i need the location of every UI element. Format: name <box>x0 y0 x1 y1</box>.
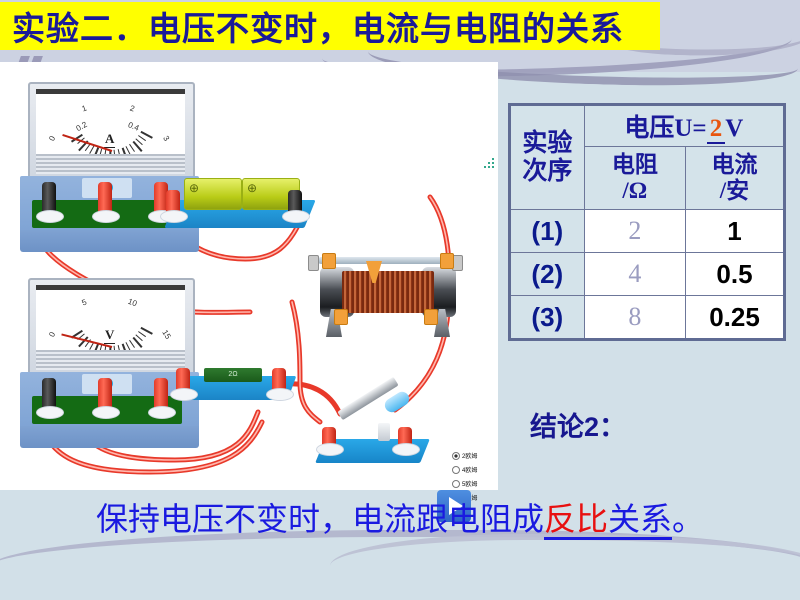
rheostat-clip[interactable] <box>440 253 454 269</box>
title-banner: 实验二．电压不变时，电流与电阻的关系 <box>0 2 660 50</box>
table-header-row: 实验 次序 电压U=2V <box>510 105 785 147</box>
battery-holder <box>170 172 315 242</box>
switch-contact-block <box>378 423 390 441</box>
radio-dot-icon[interactable] <box>452 480 460 488</box>
ammeter-terminal-negative[interactable] <box>42 182 56 216</box>
switch-terminal-right[interactable] <box>398 427 412 449</box>
header-sequence-line1: 实验 <box>511 130 584 158</box>
cell-resistance: 8 <box>584 296 685 340</box>
radio-option-label: 4欧姆 <box>462 465 477 474</box>
header-voltage-prefix: 电压U= <box>624 115 706 142</box>
voltmeter: 0 5 10 15 V <box>20 278 200 453</box>
rheostat-bottom-clip[interactable] <box>424 309 438 325</box>
voltmeter-terminal-negative[interactable] <box>42 378 56 412</box>
radio-option[interactable]: 4欧姆 <box>452 464 498 475</box>
cell-resistance: 2 <box>584 210 685 253</box>
ammeter-terminal-positive[interactable] <box>98 182 112 216</box>
battery-cell <box>184 178 242 210</box>
radio-option-label: 5欧姆 <box>462 479 477 488</box>
decorative-dots <box>484 158 498 170</box>
radio-option[interactable]: 2欧姆 <box>452 450 498 461</box>
page-title: 实验二．电压不变时，电流与电阻的关系 <box>0 2 624 50</box>
ammeter-face: 0 0.2 1 2 0.4 3 A <box>36 89 185 156</box>
resistor-terminal-left[interactable] <box>176 368 190 394</box>
conclusion-label: 结论2： <box>530 405 626 444</box>
radio-option[interactable]: 5欧姆 <box>452 478 498 489</box>
voltmeter-bezel: 0 5 10 15 V <box>28 278 195 378</box>
rheostat-bottom-clip[interactable] <box>334 309 348 325</box>
row-label: (3) <box>510 296 585 340</box>
table-row: (2) 4 0.5 <box>510 253 785 296</box>
conclusion-highlight: 反比 <box>544 501 608 540</box>
sliding-rheostat[interactable] <box>300 247 475 342</box>
resistor-terminal-right[interactable] <box>272 368 286 394</box>
radio-dot-icon[interactable] <box>452 452 460 460</box>
voltmeter-face: 0 5 10 15 V <box>36 285 185 352</box>
cell-current: 1 <box>685 210 784 253</box>
header-resistance: 电阻 /Ω <box>584 147 685 210</box>
voltmeter-base <box>20 426 199 448</box>
ammeter-vents <box>36 154 185 174</box>
rheostat-coil <box>342 271 434 313</box>
conclusion-sentence: 保持电压不变时，电流跟电阻成反比关系。 <box>0 494 800 540</box>
header-sequence: 实验 次序 <box>510 105 585 210</box>
radio-dot-icon[interactable] <box>452 466 460 474</box>
row-label: (2) <box>510 253 585 296</box>
resistor-label: 2Ω <box>204 368 262 382</box>
voltmeter-vents <box>36 350 185 370</box>
switch-terminal-left[interactable] <box>322 427 336 449</box>
experiment-data-table: 实验 次序 电压U=2V 电阻 /Ω 电流 /安 (1) 2 1 (2) 4 0… <box>508 103 786 341</box>
voltage-value: 2 <box>710 115 723 142</box>
conclusion-part-4: 。 <box>672 501 704 537</box>
header-sequence-line2: 次序 <box>511 158 584 186</box>
circuit-diagram-panel: 0 0.2 1 2 0.4 3 A <box>0 62 498 490</box>
voltmeter-terminal-range[interactable] <box>154 378 168 412</box>
table-row: (1) 2 1 <box>510 210 785 253</box>
row-label: (1) <box>510 210 585 253</box>
battery-terminal-negative[interactable] <box>288 190 302 216</box>
conclusion-part-1: 保持电压不变时，电流跟电阻成 <box>96 501 544 537</box>
cell-current: 0.5 <box>685 253 784 296</box>
voltage-unit: V <box>725 115 743 142</box>
switch-knob[interactable] <box>382 389 411 415</box>
rheostat-rod <box>318 257 458 264</box>
voltmeter-terminal-positive[interactable] <box>98 378 112 412</box>
radio-option-label: 2欧姆 <box>462 451 477 460</box>
cell-resistance: 4 <box>584 253 685 296</box>
header-current-line1: 电流 <box>686 152 783 178</box>
table-row: (3) 8 0.25 <box>510 296 785 340</box>
header-resistance-line1: 电阻 <box>585 152 685 178</box>
rheostat-clip[interactable] <box>322 253 336 269</box>
conclusion-part-3: 关系 <box>608 501 672 540</box>
header-current: 电流 /安 <box>685 147 784 210</box>
voltmeter-symbol: V <box>104 327 115 344</box>
battery-terminal-positive[interactable] <box>166 190 180 216</box>
cell-current: 0.25 <box>685 296 784 340</box>
header-current-line2: /安 <box>686 178 783 204</box>
header-voltage: 电压U=2V <box>584 105 784 147</box>
knife-switch[interactable] <box>320 417 435 477</box>
resistor-component[interactable]: 2Ω <box>180 362 300 408</box>
ammeter-symbol: A <box>104 131 115 148</box>
ammeter-bezel: 0 0.2 1 2 0.4 3 A <box>28 82 195 182</box>
header-resistance-line2: /Ω <box>585 178 685 204</box>
rheostat-post[interactable] <box>308 255 319 271</box>
